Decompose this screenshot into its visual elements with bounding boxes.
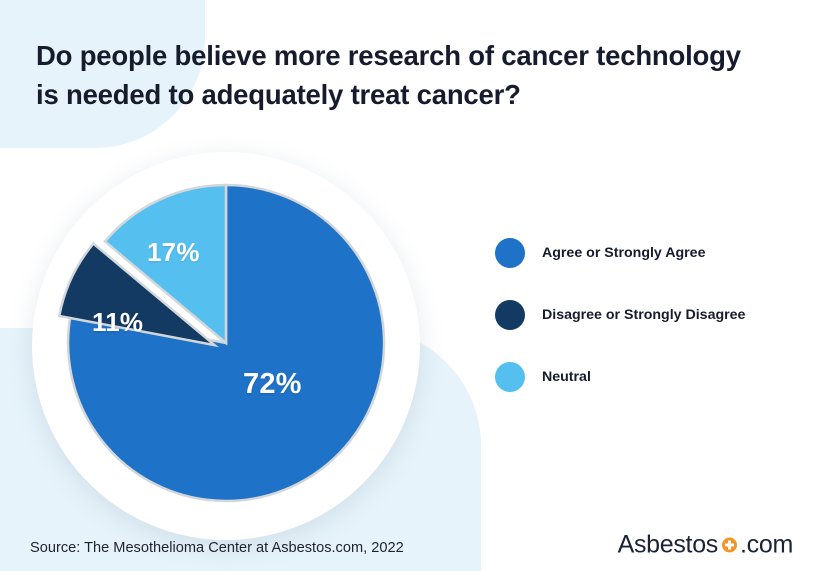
- orange-plus-circle-icon: [722, 538, 737, 553]
- logo-tld: .com: [740, 531, 793, 560]
- pie-label-agree: 72%: [243, 368, 302, 401]
- legend-swatch-disagree: [495, 300, 525, 330]
- pie-label-disagree: 11%: [92, 307, 143, 338]
- legend-item-disagree[interactable]: Disagree or Strongly Disagree: [495, 284, 795, 346]
- chart-legend: Agree or Strongly Agree Disagree or Stro…: [495, 222, 795, 408]
- legend-label-neutral: Neutral: [542, 369, 591, 385]
- legend-item-neutral[interactable]: Neutral: [495, 346, 795, 408]
- legend-label-disagree: Disagree or Strongly Disagree: [542, 307, 745, 323]
- asbestos-com-logo[interactable]: Asbestos .com: [618, 531, 793, 560]
- infographic-canvas: Do people believe more research of cance…: [0, 0, 815, 571]
- pie-label-neutral: 17%: [147, 237, 200, 268]
- legend-swatch-agree: [495, 238, 525, 268]
- legend-label-agree: Agree or Strongly Agree: [542, 245, 705, 261]
- legend-item-agree[interactable]: Agree or Strongly Agree: [495, 222, 795, 284]
- page-title: Do people believe more research of cance…: [36, 36, 766, 114]
- pie-chart: [68, 185, 384, 501]
- logo-wordmark: Asbestos: [618, 531, 718, 560]
- legend-swatch-neutral: [495, 362, 525, 392]
- source-caption: Source: The Mesothelioma Center at Asbes…: [30, 540, 404, 556]
